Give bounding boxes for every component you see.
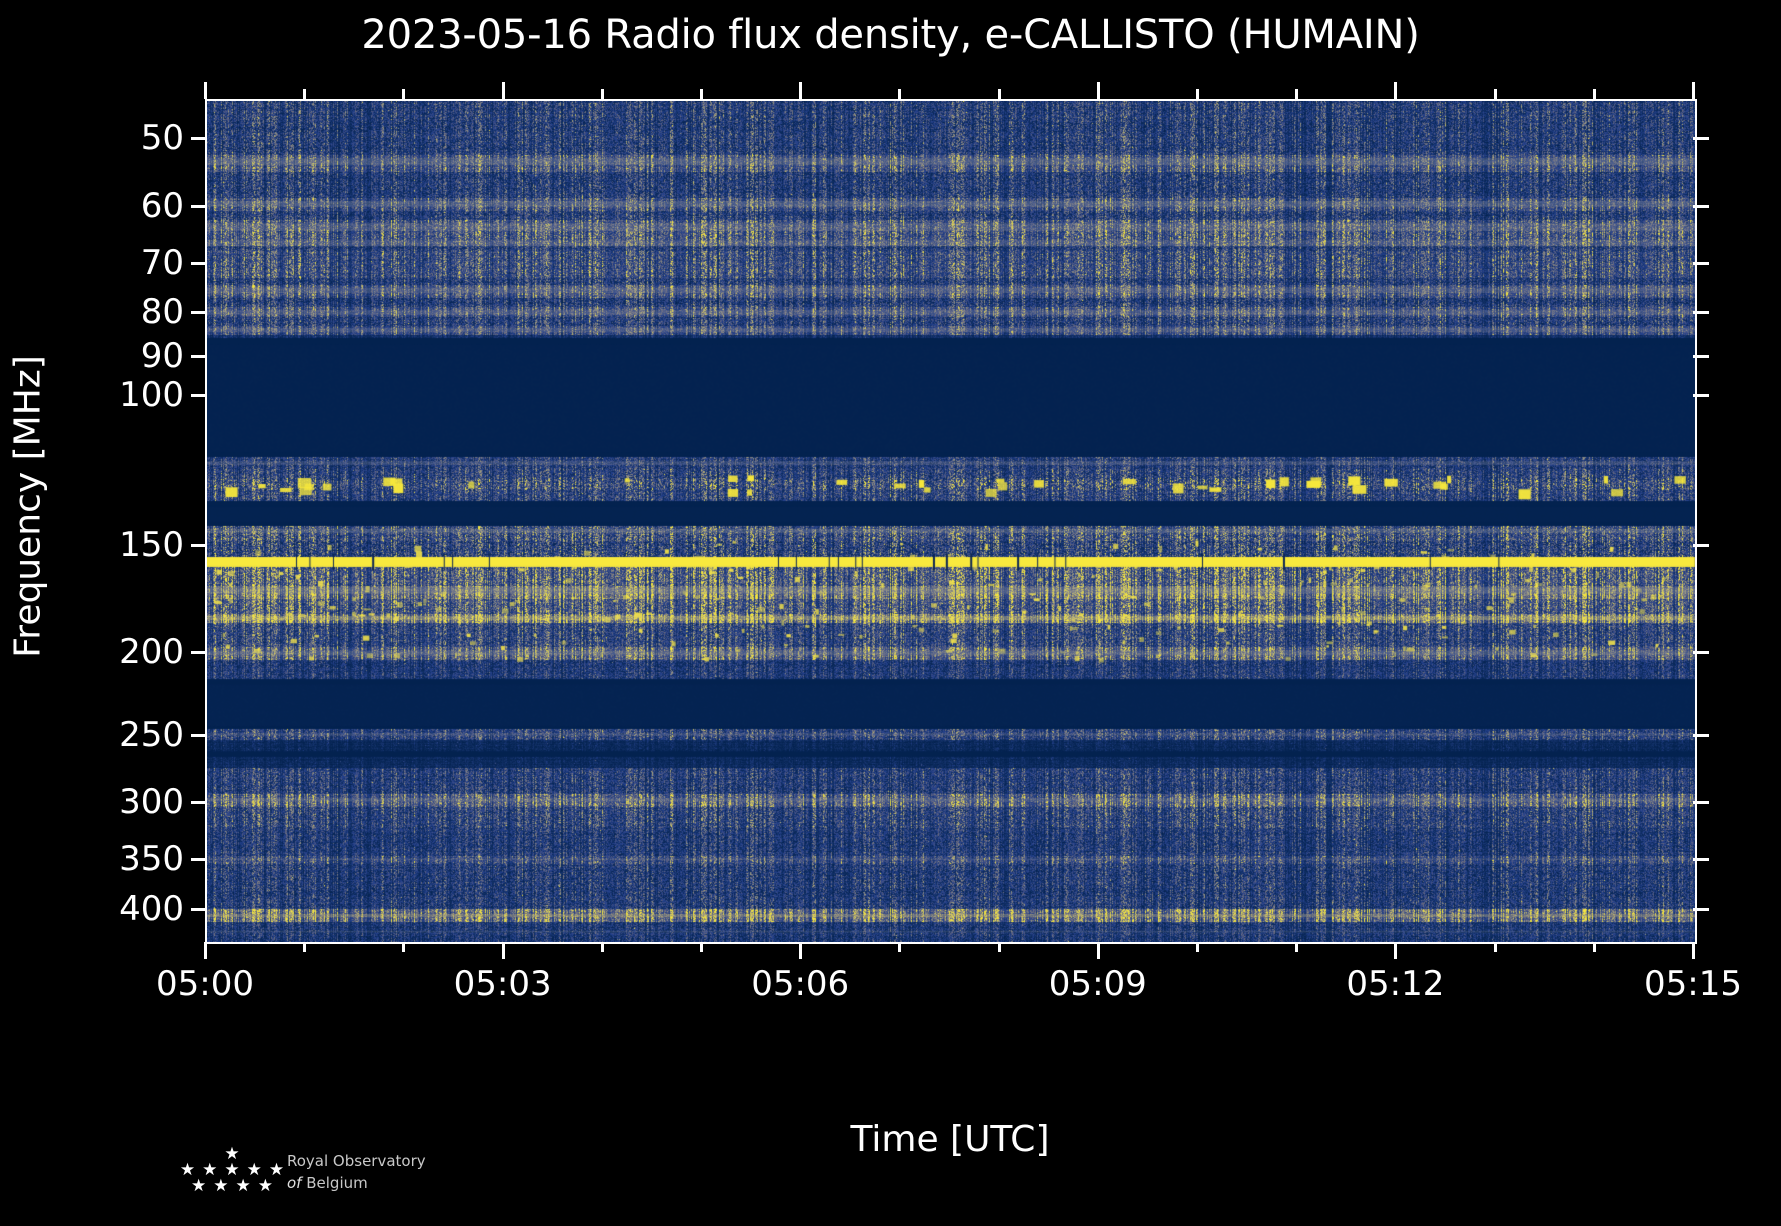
x-axis-tick <box>1692 942 1695 959</box>
x-axis-tick <box>1097 942 1100 959</box>
x-axis-tick <box>502 942 505 959</box>
y-axis-tick <box>191 651 207 654</box>
y-axis-tick-label: 250 <box>119 715 184 755</box>
royal-observatory-logo: ★★★★★★★★★★ Royal Observatory of Belgium <box>183 1147 443 1205</box>
x-axis-tick-label: 05:03 <box>454 964 552 1004</box>
x-axis-tick-top <box>799 82 802 99</box>
spectrogram-plot <box>205 99 1697 944</box>
y-axis-tick <box>191 801 207 804</box>
logo-line-1: Royal Observatory <box>287 1152 426 1170</box>
logo-of-word: of <box>287 1174 301 1192</box>
x-axis-minor-tick-top <box>1593 89 1596 99</box>
spectrogram-figure: 2023-05-16 Radio flux density, e-CALLIST… <box>0 0 1781 1226</box>
y-axis-tick <box>191 262 207 265</box>
x-axis-tick-label: 05:09 <box>1049 964 1147 1004</box>
x-axis-minor-tick <box>402 942 405 952</box>
y-axis-tick-label: 150 <box>119 525 184 565</box>
x-axis-minor-tick-top <box>1494 89 1497 99</box>
y-axis-tick <box>191 311 207 314</box>
x-axis-minor-tick <box>601 942 604 952</box>
y-axis-tick <box>191 544 207 547</box>
star-icon: ★ <box>213 1179 228 1195</box>
x-axis-minor-tick-top <box>700 89 703 99</box>
x-axis-minor-tick <box>700 942 703 952</box>
x-axis-minor-tick <box>898 942 901 952</box>
y-axis-tick-right <box>1693 205 1709 208</box>
y-axis-tick-label: 400 <box>119 889 184 929</box>
y-axis-tick <box>191 394 207 397</box>
x-axis-minor-tick-top <box>998 89 1001 99</box>
x-axis-minor-tick-top <box>303 89 306 99</box>
x-axis-tick <box>799 942 802 959</box>
y-axis-label: Frequency [MHz] <box>8 157 49 857</box>
x-axis-tick-top <box>1394 82 1397 99</box>
x-axis-tick-label: 05:12 <box>1346 964 1444 1004</box>
x-axis-tick-label: 05:15 <box>1644 964 1742 1004</box>
x-axis-minor-tick-top <box>601 89 604 99</box>
spectrogram-canvas <box>207 101 1695 942</box>
logo-line-2: of Belgium <box>287 1172 426 1194</box>
y-axis-tick-right <box>1693 734 1709 737</box>
star-icon: ★ <box>236 1179 251 1195</box>
x-axis-minor-tick-top <box>1295 89 1298 99</box>
y-axis-tick-right <box>1693 311 1709 314</box>
y-axis-tick-right <box>1693 137 1709 140</box>
y-axis-tick-label: 300 <box>119 782 184 822</box>
y-axis-tick-label: 350 <box>119 839 184 879</box>
y-axis-tick <box>191 734 207 737</box>
star-icon: ★ <box>191 1179 206 1195</box>
x-axis-minor-tick-top <box>1196 89 1199 99</box>
x-axis-minor-tick <box>1196 942 1199 952</box>
y-axis-tick <box>191 908 207 911</box>
y-axis-tick-right <box>1693 801 1709 804</box>
y-axis-tick-label: 90 <box>141 336 184 376</box>
y-axis-tick-right <box>1693 544 1709 547</box>
stars-icon: ★★★★★★★★★★ <box>183 1147 281 1203</box>
y-axis-tick-right <box>1693 394 1709 397</box>
x-axis-tick-top <box>502 82 505 99</box>
x-axis-minor-tick <box>303 942 306 952</box>
x-axis-tick-top <box>1692 82 1695 99</box>
logo-belgium-word: Belgium <box>306 1174 368 1192</box>
y-axis-tick-right <box>1693 262 1709 265</box>
y-axis-tick-label: 50 <box>141 118 184 158</box>
star-row: ★★★★ <box>183 1179 281 1195</box>
y-axis-tick <box>191 858 207 861</box>
y-axis-tick-right <box>1693 908 1709 911</box>
x-axis-minor-tick-top <box>402 89 405 99</box>
x-axis-tick-label: 05:00 <box>156 964 254 1004</box>
y-axis-tick <box>191 355 207 358</box>
y-axis-tick-label: 70 <box>141 243 184 283</box>
y-axis-tick-label: 200 <box>119 632 184 672</box>
x-axis-minor-tick <box>1593 942 1596 952</box>
y-axis-tick-label: 60 <box>141 186 184 226</box>
x-axis-minor-tick <box>998 942 1001 952</box>
x-axis-tick-label: 05:06 <box>751 964 849 1004</box>
logo-text: Royal Observatory of Belgium <box>287 1150 426 1194</box>
y-axis-tick <box>191 137 207 140</box>
y-axis-tick-right <box>1693 355 1709 358</box>
y-axis-tick <box>191 205 207 208</box>
x-axis-tick-top <box>1097 82 1100 99</box>
x-axis-tick <box>204 942 207 959</box>
x-axis-tick-top <box>204 82 207 99</box>
y-axis-tick-right <box>1693 858 1709 861</box>
x-axis-minor-tick-top <box>898 89 901 99</box>
y-axis-tick-right <box>1693 651 1709 654</box>
x-axis-minor-tick <box>1295 942 1298 952</box>
y-axis-tick-label: 100 <box>119 375 184 415</box>
star-icon: ★ <box>258 1179 273 1195</box>
y-axis-tick-label: 80 <box>141 292 184 332</box>
x-axis-tick <box>1394 942 1397 959</box>
x-axis-minor-tick <box>1494 942 1497 952</box>
page-title: 2023-05-16 Radio flux density, e-CALLIST… <box>0 12 1781 58</box>
